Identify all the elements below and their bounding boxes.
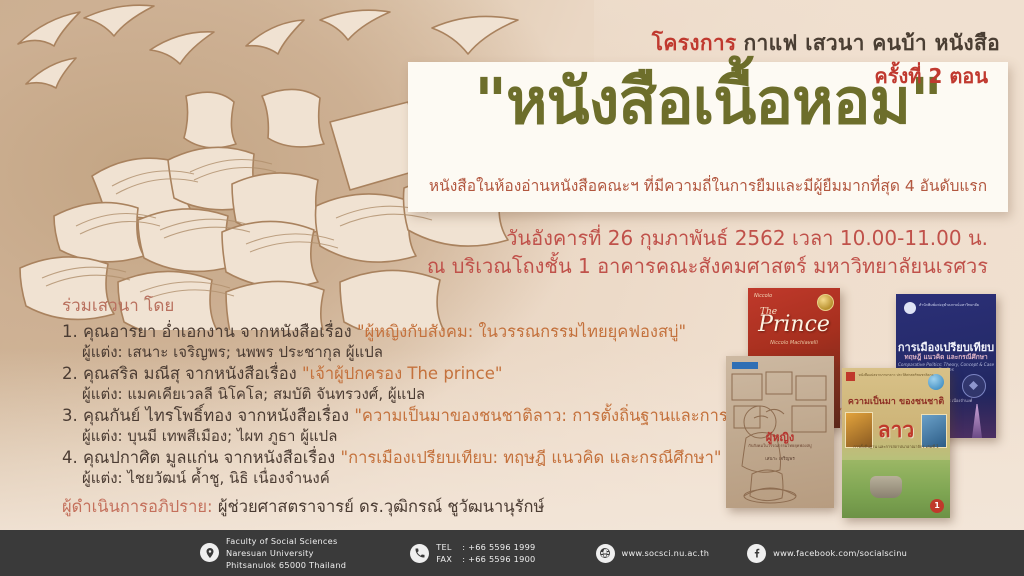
address-line-1: Faculty of Social Sciences — [226, 536, 337, 546]
footer-address-text: Faculty of Social Sciences Naresuan Univ… — [226, 535, 346, 572]
footer-website-text[interactable]: www.socsci.nu.ac.th — [622, 547, 710, 559]
speaker-row: 3. คุณกันย์ ไทรโพธิ์ทอง จากหนังสือเรื่อง… — [62, 405, 702, 427]
speaker-authors: ผู้แต่ง: แมคเคียเวลลี นิโคโล; สมบัติ จัน… — [62, 385, 702, 405]
panel-heading: ร่วมเสวนา โดย — [62, 292, 702, 319]
stone-jar-illustration — [870, 476, 902, 498]
list-item: 3. คุณกันย์ ไทรโพธิ์ทอง จากหนังสือเรื่อง… — [62, 405, 702, 447]
phone-icon — [410, 544, 429, 563]
address-line-3: Phitsanulok 65000 Thailand — [226, 560, 346, 570]
book-cover-publisher: สำนักพิมพ์แห่งจุฬาลงกรณ์มหาวิทยาลัย — [919, 303, 979, 308]
series-tab — [732, 362, 758, 369]
speaker-authors: ผู้แต่ง: บุนมี เทพสีเมือง; ไผท ภูธา ผู้แ… — [62, 427, 702, 447]
fax-value: +66 5596 1900 — [468, 553, 535, 565]
footer-address: Faculty of Social Sciences Naresuan Univ… — [200, 535, 346, 572]
book-cover-subtitle: การตั้งถิ่นฐาน และการสถาปนาอาณาจักร เล่ม… — [842, 444, 950, 450]
speaker-index: 3. — [62, 406, 78, 425]
moderator-label: ผู้ดำเนินการอภิปราย: — [62, 497, 213, 516]
book-cover-title: Prince — [748, 312, 840, 337]
moderator-name: ผู้ช่วยศาสตราจารย์ ดร.วุฒิกรณ์ ชูวัฒนานุ… — [218, 497, 544, 516]
speaker-name: คุณสริล มณีสุ — [83, 364, 180, 383]
award-seal-icon — [817, 294, 834, 311]
panel-speakers: ร่วมเสวนา โดย 1. คุณอารยา อ่ำเอกงาน จากห… — [62, 292, 702, 520]
tel-value: +66 5596 1999 — [468, 541, 535, 553]
list-item: 1. คุณอารยา อ่ำเอกงาน จากหนังสือเรื่อง "… — [62, 321, 702, 363]
footer-website[interactable]: www.socsci.nu.ac.th — [596, 544, 710, 563]
speaker-name: คุณปกาศิต มูลแก่น — [83, 448, 218, 467]
list-item: 2. คุณสริล มณีสุ จากหนังสือเรื่อง "เจ้าผ… — [62, 363, 702, 405]
speaker-authors: ผู้แต่ง: เสนาะ เจริญพร; นพพร ประชากุล ผู… — [62, 343, 702, 363]
speaker-authors: ผู้แต่ง: ไชยวัฒน์ ค้ำชู, นิธิ เนื่องจำนง… — [62, 469, 702, 489]
speaker-book-title: "การเมืองเปรียบเทียบ: ทฤษฎี แนวคิด และกร… — [341, 448, 722, 467]
book-cover-women-and-society: ผู้หญิง กับสังคมในวรรณกรรมไทยยุคฟองสบู่ … — [726, 356, 834, 508]
book-cover-laos-history: หนังสือแปลจากภาษาลาว ประวัติศาสตร์ชนชาติ… — [842, 368, 950, 518]
footer-phone: TEL : +66 5596 1999 FAX : +66 5596 1900 — [410, 541, 535, 566]
kicker-prefix: โครงการ — [652, 31, 737, 55]
book-cover-author: เสนาะ เจริญพร — [726, 456, 834, 463]
book-cover-subtitle: ทฤษฎี แนวคิด และกรณีศึกษา — [896, 352, 996, 362]
speaker-from: จากหนังสือเรื่อง — [185, 364, 297, 383]
speaker-name: คุณกันย์ ไทรโพธิ์ทอง — [83, 406, 232, 425]
footer-facebook-text[interactable]: www.facebook.com/socialscinu — [773, 547, 907, 559]
fax-label: FAX — [436, 553, 462, 565]
title-subtitle: หนังสือในห้องอ่านหนังสือคณะฯ ที่มีความถี… — [408, 173, 1008, 198]
book-cover-author: Niccolo Machiavelli — [748, 340, 840, 346]
footer-facebook[interactable]: www.facebook.com/socialscinu — [747, 544, 907, 563]
speaker-book-title: "เจ้าผู้ปกครอง The prince" — [302, 364, 502, 383]
footer-bar: Faculty of Social Sciences Naresuan Univ… — [0, 530, 1024, 576]
speaker-name: คุณอารยา อ่ำเอกงาน — [83, 322, 235, 341]
book-cover-collage: Niccolo The Prince Niccolo Machiavelli ส… — [726, 286, 1012, 518]
speaker-from: จากหนังสือเรื่อง — [224, 448, 336, 467]
globe-icon — [596, 544, 615, 563]
speaker-book-title: "ผู้หญิงกับสังคม: ในวรรณกรรมไทยยุคฟองสบู… — [357, 322, 686, 341]
speaker-from: จากหนังสือเรื่อง — [240, 322, 352, 341]
moderator-row: ผู้ดำเนินการอภิปราย: ผู้ช่วยศาสตราจารย์ … — [62, 494, 702, 520]
speaker-row: 2. คุณสริล มณีสุ จากหนังสือเรื่อง "เจ้าผ… — [62, 363, 702, 385]
tel-row: TEL : +66 5596 1999 — [436, 541, 535, 553]
episode-label: ครั้งที่ 2 ตอน — [874, 60, 988, 92]
speaker-row: 4. คุณปกาศิต มูลแก่น จากหนังสือเรื่อง "ก… — [62, 447, 702, 469]
list-item: 4. คุณปกาศิต มูลแก่น จากหนังสือเรื่อง "ก… — [62, 447, 702, 489]
publisher-logo-icon — [904, 302, 916, 314]
book-cover-subtitle: กับสังคมในวรรณกรรมไทยยุคฟองสบู่ — [726, 442, 834, 449]
speaker-from: จากหนังสือเรื่อง — [237, 406, 349, 425]
book-cover-top-note: Niccolo — [754, 293, 772, 299]
book-cover-title-big: ลาว — [842, 420, 950, 441]
event-venue: ณ บริเวณโถงชั้น 1 อาคารคณะสังคมศาสตร์ มห… — [427, 250, 988, 282]
speaker-index: 2. — [62, 364, 78, 383]
kicker-title: กาแฟ เสวนา คนบ้า หนังสือ — [744, 31, 1001, 55]
location-pin-icon — [200, 543, 219, 562]
footer-phone-text: TEL : +66 5596 1999 FAX : +66 5596 1900 — [436, 541, 535, 566]
poster-canvas: โครงการ กาแฟ เสวนา คนบ้า หนังสือ ครั้งที… — [0, 0, 1024, 576]
facebook-icon — [747, 544, 766, 563]
volume-badge: 1 — [930, 499, 944, 513]
speaker-index: 1. — [62, 322, 78, 341]
speaker-index: 4. — [62, 448, 78, 467]
book-cover-title: ความเป็นมา ของชนชาติ — [842, 398, 950, 408]
tel-label: TEL — [436, 541, 462, 553]
speaker-row: 1. คุณอารยา อ่ำเอกงาน จากหนังสือเรื่อง "… — [62, 321, 702, 343]
address-line-2: Naresuan University — [226, 548, 314, 558]
program-kicker: โครงการ กาแฟ เสวนา คนบ้า หนังสือ — [652, 27, 1000, 60]
fax-row: FAX : +66 5596 1900 — [436, 553, 535, 565]
book-cover-top-note: หนังสือแปลจากภาษาลาว ประวัติศาสตร์ชนชาติ… — [842, 373, 950, 378]
